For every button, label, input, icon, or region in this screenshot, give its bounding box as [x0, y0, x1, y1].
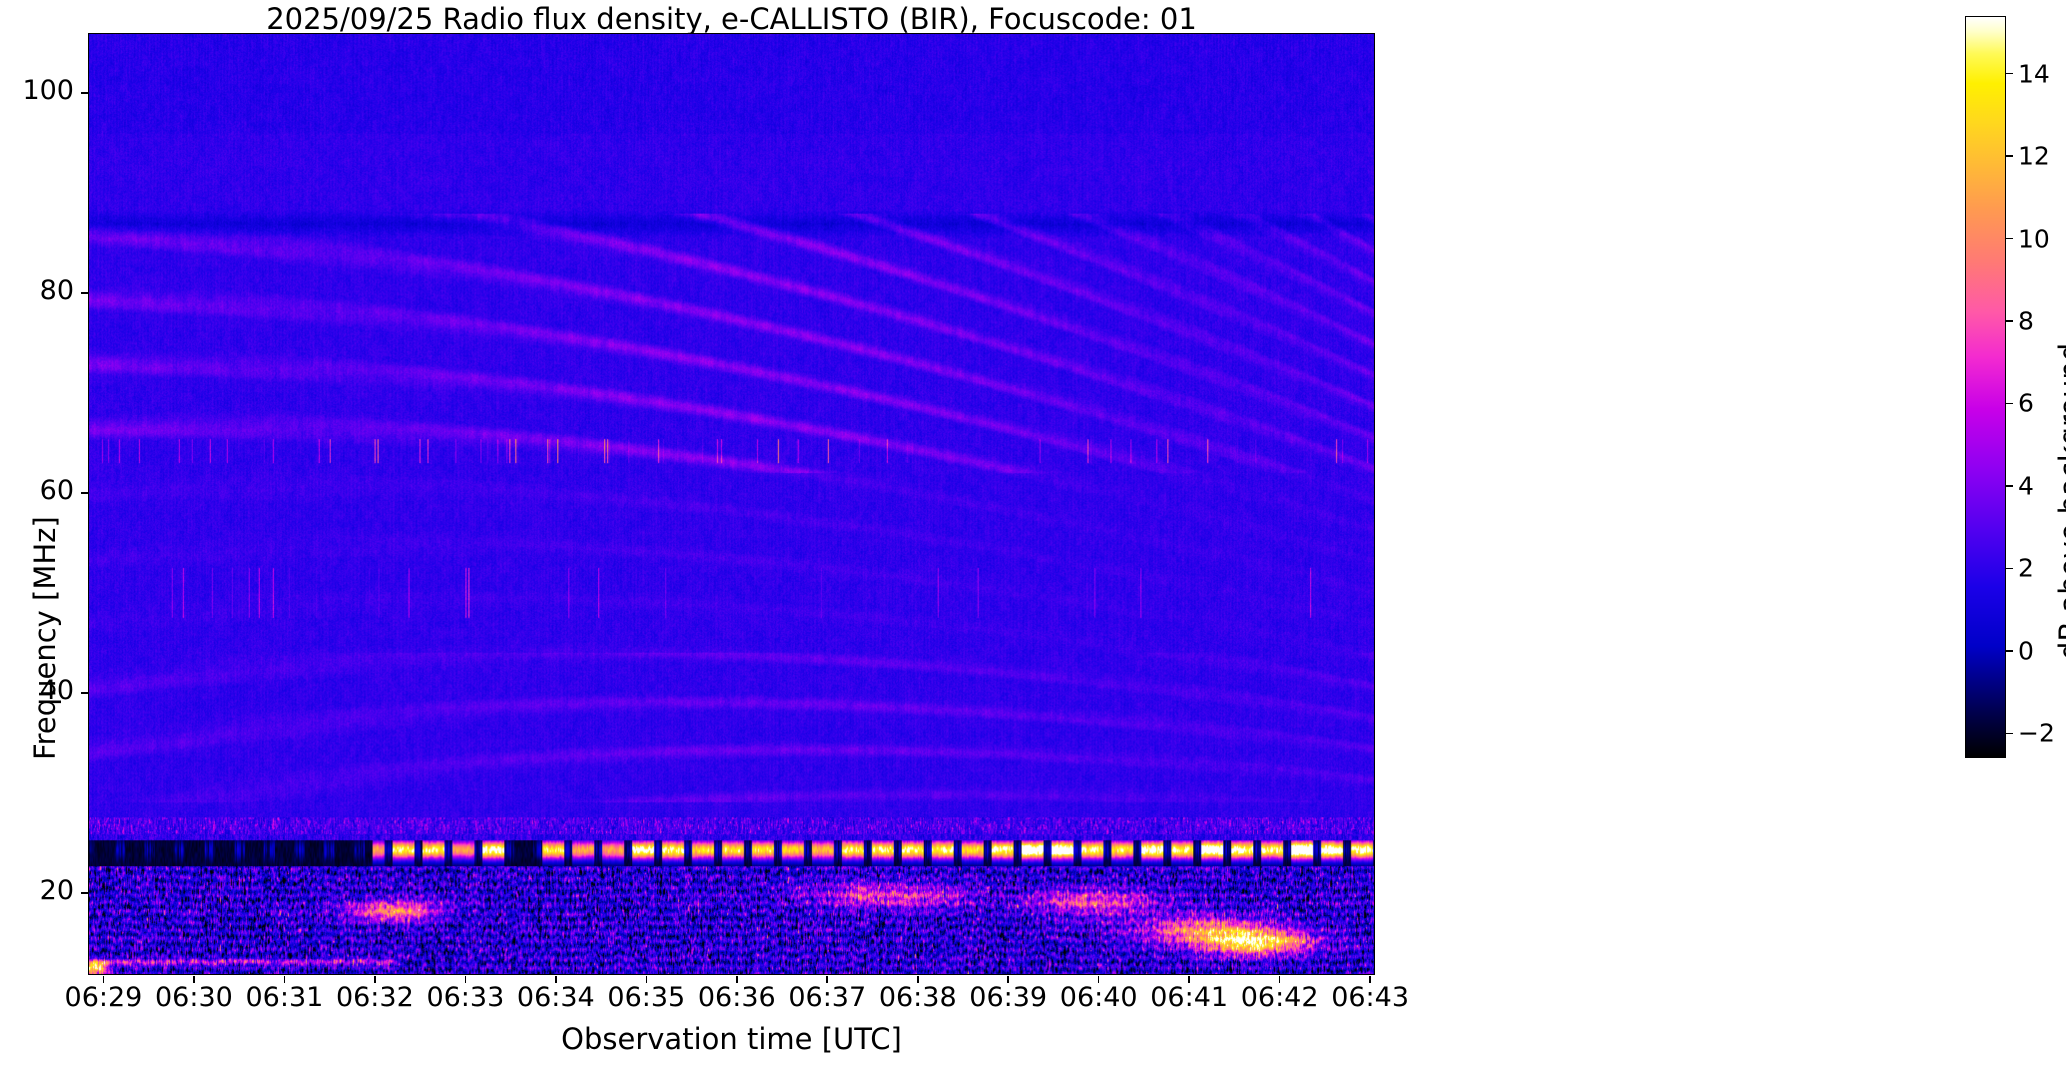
colorbar-gradient [1966, 17, 2005, 757]
x-tick-mark [555, 976, 557, 983]
x-tick-mark [103, 976, 105, 983]
colorbar [1965, 16, 2006, 758]
x-tick-label: 06:41 [1150, 982, 1228, 1013]
y-axis-label: Frequency [MHz] [28, 516, 62, 760]
y-tick-label: 60 [40, 475, 74, 506]
colorbar-tick-label: 12 [2018, 142, 2050, 171]
page-title: 2025/09/25 Radio flux density, e-CALLIST… [88, 2, 1375, 36]
y-tick-mark [81, 92, 88, 94]
x-tick-mark [465, 976, 467, 983]
spectrogram-figure: 2025/09/25 Radio flux density, e-CALLIST… [0, 0, 2066, 1067]
colorbar-tick-label: 0 [2018, 636, 2034, 665]
y-tick-label: 80 [40, 275, 74, 306]
x-tick-mark [736, 976, 738, 983]
colorbar-label: dB above background [2053, 343, 2066, 660]
x-tick-label: 06:43 [1331, 982, 1409, 1013]
y-tick-label: 100 [22, 75, 74, 106]
x-tick-label: 06:34 [517, 982, 595, 1013]
colorbar-tick-label: 10 [2018, 224, 2050, 253]
x-tick-mark [1007, 976, 1009, 983]
x-tick-mark [646, 976, 648, 983]
x-tick-label: 06:30 [155, 982, 233, 1013]
spectrogram-plot[interactable] [88, 33, 1375, 975]
x-tick-label: 06:42 [1241, 982, 1319, 1013]
x-tick-label: 06:33 [426, 982, 504, 1013]
x-tick-mark [1188, 976, 1190, 983]
x-tick-mark [1098, 976, 1100, 983]
colorbar-tick-mark [2006, 485, 2013, 487]
colorbar-tick-label: 4 [2018, 471, 2034, 500]
colorbar-tick-mark [2006, 568, 2013, 570]
colorbar-tick-mark [2006, 320, 2013, 322]
y-tick-mark [81, 292, 88, 294]
x-tick-mark [1369, 976, 1371, 983]
x-tick-label: 06:35 [607, 982, 685, 1013]
y-tick-mark [81, 492, 88, 494]
colorbar-tick-mark [2006, 238, 2013, 240]
colorbar-tick-label: 6 [2018, 389, 2034, 418]
y-tick-label: 20 [40, 875, 74, 906]
colorbar-tick-mark [2006, 155, 2013, 157]
colorbar-tick-label: 8 [2018, 307, 2034, 336]
y-tick-mark [81, 692, 88, 694]
x-tick-mark [374, 976, 376, 983]
x-tick-label: 06:36 [698, 982, 776, 1013]
colorbar-tick-mark [2006, 403, 2013, 405]
x-tick-label: 06:31 [245, 982, 323, 1013]
x-tick-label: 06:37 [788, 982, 866, 1013]
x-tick-mark [1279, 976, 1281, 983]
x-tick-label: 06:32 [336, 982, 414, 1013]
x-tick-label: 06:39 [969, 982, 1047, 1013]
x-tick-label: 06:29 [65, 982, 143, 1013]
colorbar-tick-label: −2 [2018, 719, 2055, 748]
x-tick-mark [917, 976, 919, 983]
x-axis-label: Observation time [UTC] [88, 1022, 1375, 1056]
colorbar-tick-label: 14 [2018, 59, 2050, 88]
spectrogram-image [89, 34, 1374, 974]
colorbar-tick-mark [2006, 73, 2013, 75]
colorbar-tick-mark [2006, 650, 2013, 652]
x-tick-label: 06:40 [1060, 982, 1138, 1013]
x-tick-label: 06:38 [879, 982, 957, 1013]
x-tick-mark [193, 976, 195, 983]
y-tick-mark [81, 892, 88, 894]
colorbar-tick-mark [2006, 733, 2013, 735]
colorbar-tick-label: 2 [2018, 554, 2034, 583]
y-tick-label: 40 [40, 675, 74, 706]
x-tick-mark [284, 976, 286, 983]
x-tick-mark [826, 976, 828, 983]
